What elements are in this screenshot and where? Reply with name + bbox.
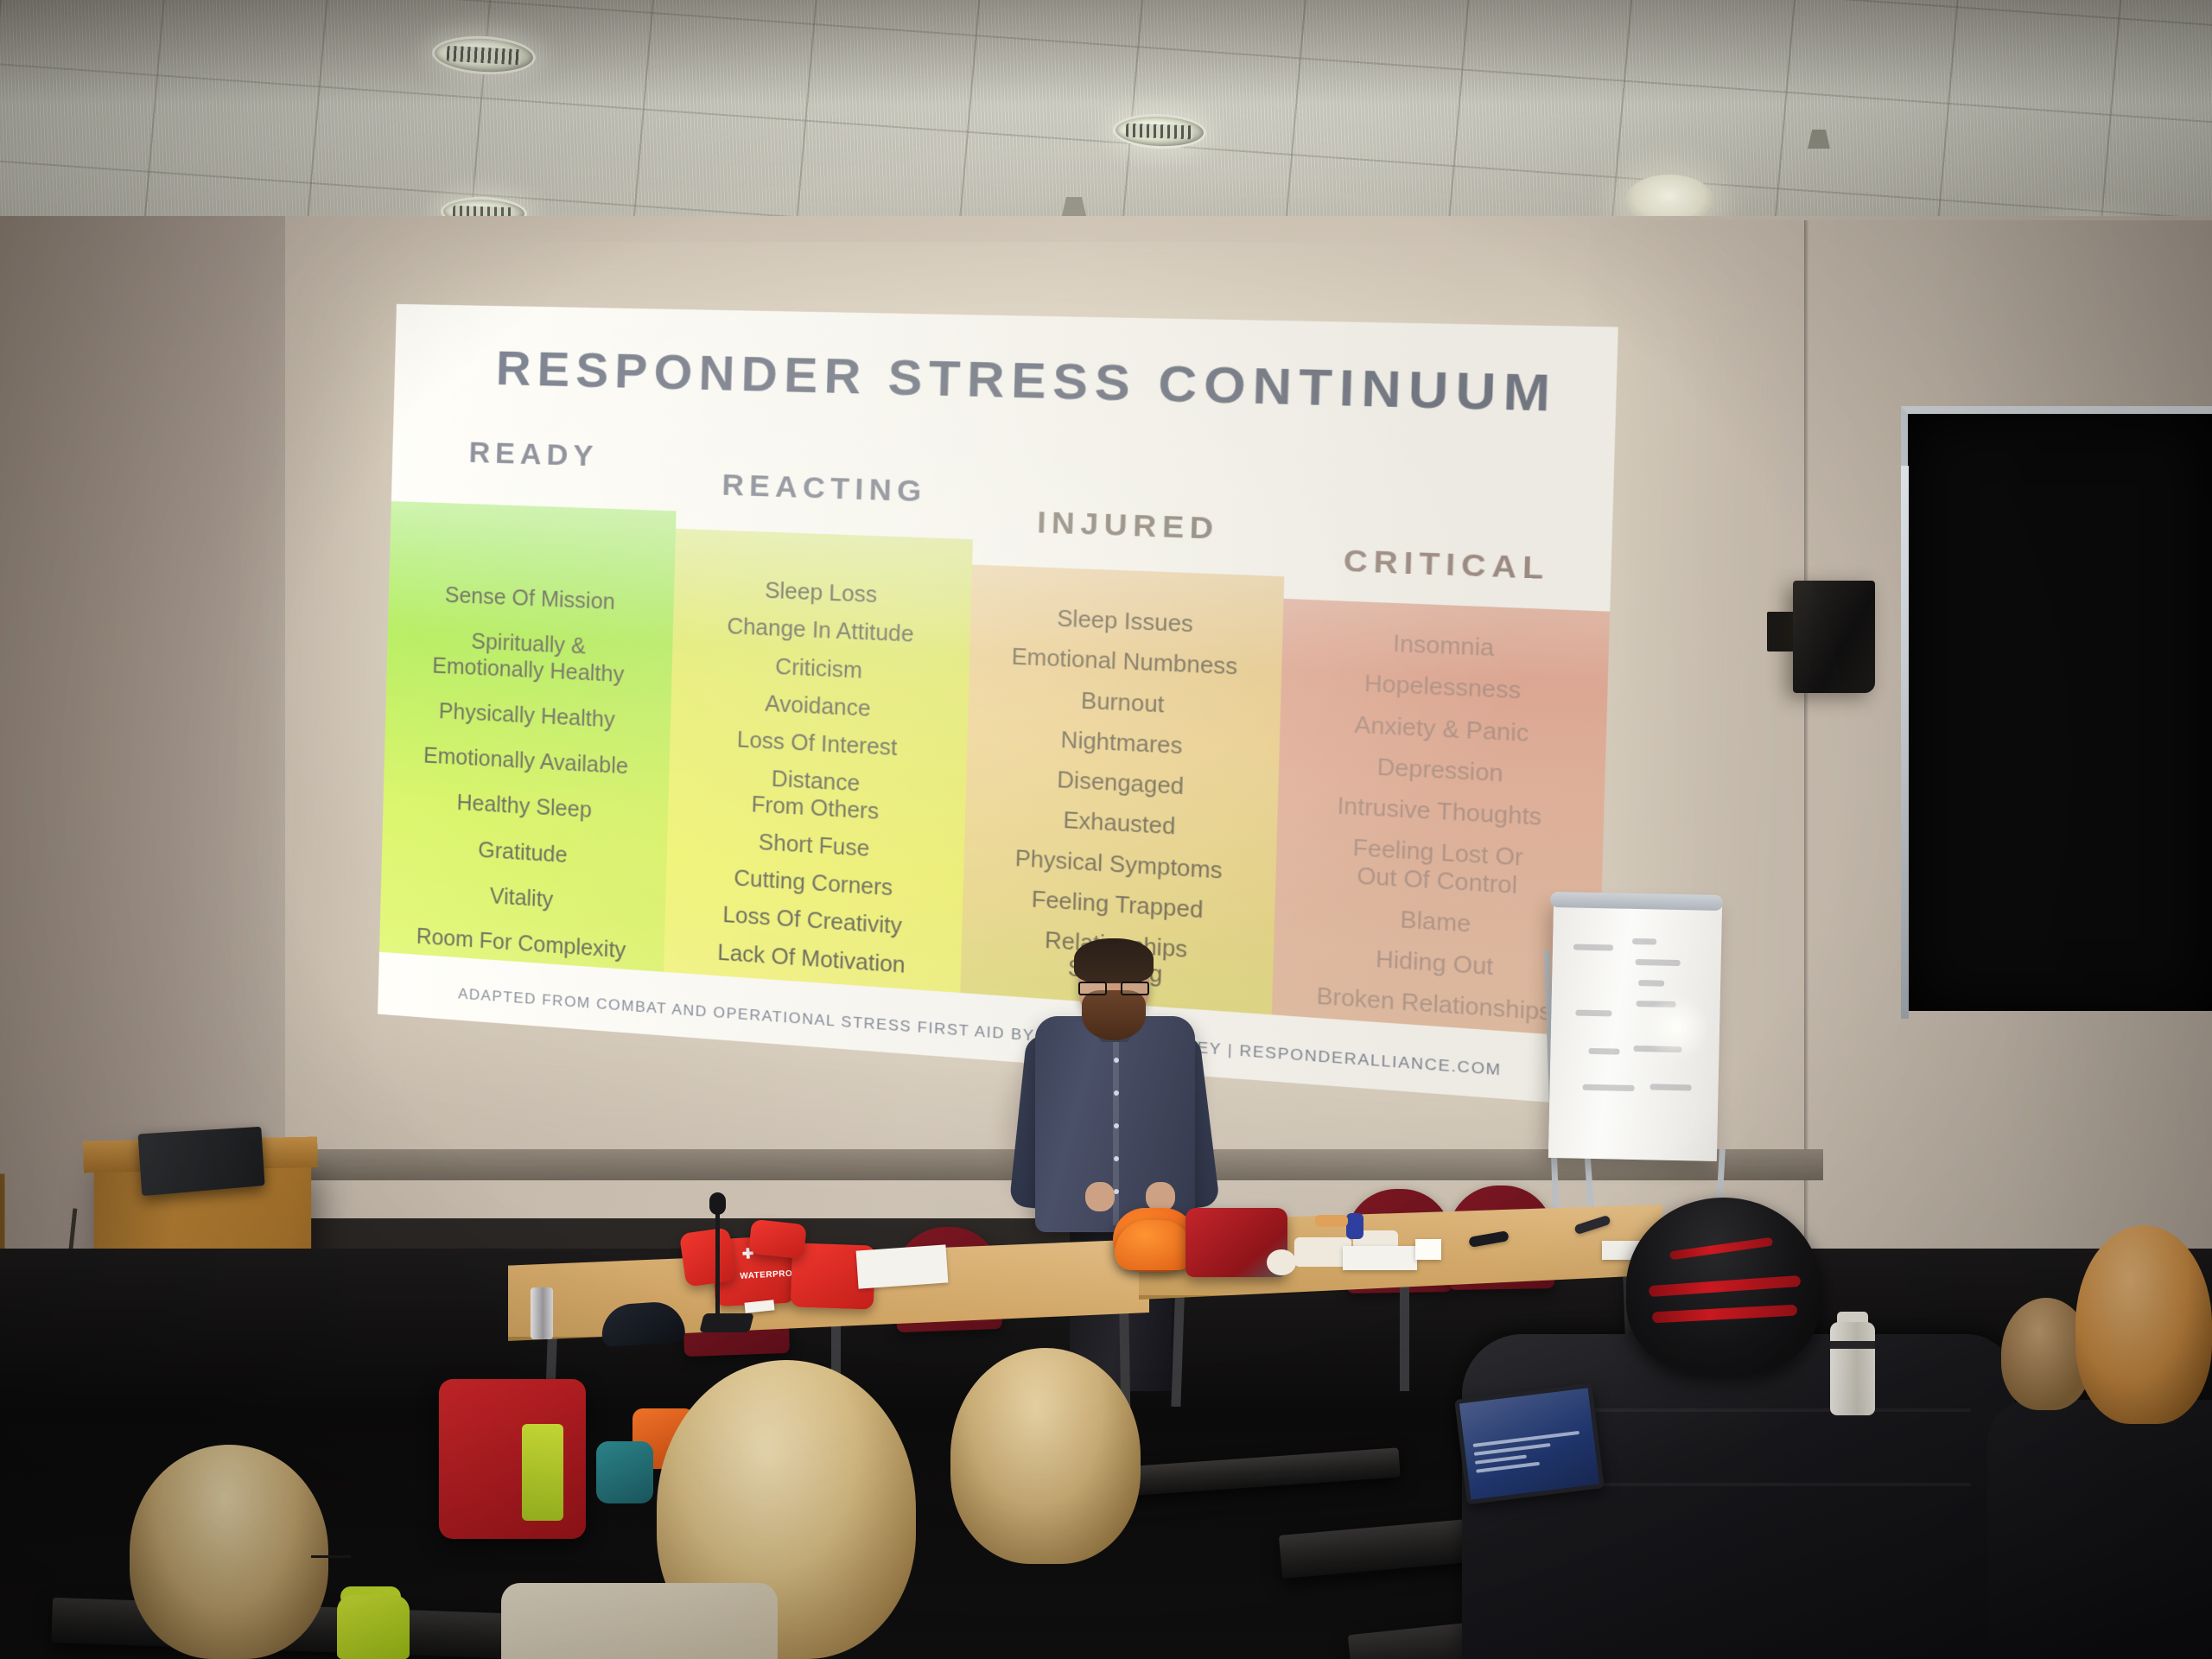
continuum-item: Vitality <box>391 877 653 919</box>
tape-roll[interactable] <box>1267 1249 1296 1275</box>
flipchart-scribble <box>1588 1048 1619 1055</box>
continuum-item: Disengaged <box>978 763 1265 805</box>
first-aid-kit[interactable] <box>679 1227 736 1287</box>
water-bottle-band <box>1830 1341 1875 1349</box>
shirt-button <box>1114 1123 1119 1128</box>
continuum-item: Short Fuse <box>678 825 952 868</box>
slide: READY Sense Of MissionSpiritually & Emot… <box>378 304 1618 1106</box>
flipchart-scribble <box>1632 938 1656 945</box>
flipchart-scribble <box>1583 1084 1635 1091</box>
laptop-screen-content <box>1473 1431 1584 1478</box>
flipchart-scribble <box>1573 944 1613 950</box>
continuum-item: Depression <box>1291 750 1592 793</box>
microphone-icon[interactable] <box>709 1192 726 1215</box>
microphone-stem <box>715 1206 720 1324</box>
column-ready: READY Sense Of MissionSpiritually & Emot… <box>378 304 681 1035</box>
continuum-item: Intrusive Thoughts <box>1290 791 1591 835</box>
audience-beanie <box>1626 1198 1821 1375</box>
window-blackout-blind <box>1901 406 2212 1011</box>
audience-head <box>130 1445 328 1659</box>
speaker-bracket <box>1767 612 1796 652</box>
shirt-button <box>1114 1058 1119 1063</box>
column-items-reacting: Sleep LossChange In AttitudeCriticismAvo… <box>674 575 960 1032</box>
continuum-item: Emotionally Available <box>396 742 658 782</box>
presenter-beard <box>1082 990 1146 1040</box>
continuum-item: Exhausted <box>977 804 1264 847</box>
shirt-button <box>1114 1156 1119 1161</box>
continuum-item: Distance From Others <box>679 762 954 829</box>
bandage-pack[interactable] <box>1343 1246 1417 1270</box>
flipchart-glare <box>1641 995 1711 1059</box>
continuum-item: Loss Of Interest <box>681 724 955 765</box>
audience-puffy-jacket <box>1462 1334 2015 1659</box>
presenter-hand-right <box>1146 1182 1175 1211</box>
audience-laptop[interactable] <box>1454 1383 1605 1505</box>
flipchart-clamp <box>1550 892 1723 911</box>
medical-item[interactable] <box>1315 1215 1348 1227</box>
water-bottle[interactable] <box>337 1595 410 1659</box>
flipchart[interactable] <box>1548 899 1722 1161</box>
first-aid-kit[interactable] <box>748 1219 807 1259</box>
column-header-critical: CRITICAL <box>1284 541 1611 589</box>
beanie-stripe <box>1669 1237 1773 1261</box>
wall-speaker <box>1793 581 1875 693</box>
continuum-item: Avoidance <box>682 687 956 727</box>
continuum-item: Blame <box>1287 899 1587 945</box>
continuum-item: Change In Attitude <box>684 613 959 651</box>
continuum-item: Spiritually & Emotionally Healthy <box>397 626 660 690</box>
drink-can[interactable] <box>531 1287 553 1339</box>
shirt-button <box>1114 1090 1119 1096</box>
continuum-item: Gratitude <box>393 832 655 874</box>
wall-corner-edge <box>1804 220 1809 1249</box>
continuum-item: Nightmares <box>979 723 1266 765</box>
continuum-item: Cutting Corners <box>677 862 951 906</box>
blue-tape[interactable] <box>1346 1213 1363 1239</box>
continuum-item: Healthy Sleep <box>394 787 656 828</box>
presenter-hair <box>1074 938 1154 983</box>
projection-screen[interactable]: READY Sense Of MissionSpiritually & Emot… <box>378 304 1618 1106</box>
column-items-ready: Sense Of MissionSpiritually & Emotionall… <box>390 582 662 987</box>
continuum-item: Hopelessness <box>1294 668 1595 709</box>
rescue-backpack[interactable] <box>439 1379 586 1539</box>
continuum-item: Physical Symptoms <box>976 843 1262 887</box>
flipchart-scribble <box>1636 959 1681 966</box>
water-bottle[interactable] <box>1830 1322 1875 1415</box>
column-header-injured: INJURED <box>973 503 1286 550</box>
flipchart-scribble <box>1650 1084 1692 1090</box>
rescue-helmet[interactable] <box>1115 1220 1194 1270</box>
continuum-item: Anxiety & Panic <box>1292 709 1593 751</box>
column-header-reacting: REACTING <box>676 467 975 512</box>
continuum-item: Loss Of Creativity <box>677 899 950 944</box>
column-header-ready: READY <box>392 434 677 476</box>
audience-head <box>950 1348 1141 1564</box>
presenter-hand-left <box>1085 1182 1115 1211</box>
continuum-item: Hiding Out <box>1286 941 1586 988</box>
bandage-pack[interactable] <box>1415 1239 1441 1260</box>
column-reacting: REACTING Sleep LossChange In AttitudeCri… <box>662 309 980 1058</box>
continuum-item: Criticism <box>683 650 957 689</box>
continuum-item: Physically Healthy <box>397 696 658 735</box>
backpack-hi-vis-panel <box>522 1424 563 1521</box>
microphone-base <box>699 1313 753 1332</box>
continuum-item: Feeling Lost Or Out Of Control <box>1287 832 1589 905</box>
continuum-item: Burnout <box>981 683 1268 724</box>
beanie-stripe <box>1649 1275 1801 1297</box>
podium-laptop[interactable] <box>138 1127 265 1196</box>
continuum-item: Feeling Trapped <box>975 883 1262 928</box>
audience-coat <box>1987 1400 2212 1659</box>
glasses-icon <box>1077 982 1151 995</box>
window-frame-highlight <box>1901 466 1909 1019</box>
lecture-room-photo: READY Sense Of MissionSpiritually & Emot… <box>0 0 2212 1659</box>
continuum-item: Emotional Numbness <box>982 643 1269 683</box>
audience-head <box>2075 1225 2212 1424</box>
audience-jacket <box>501 1583 778 1659</box>
flipchart-scribble <box>1638 980 1664 987</box>
glasses-icon <box>311 1555 351 1564</box>
paper-sheet[interactable] <box>856 1244 949 1288</box>
beanie-stripe <box>1652 1305 1797 1324</box>
teal-bag[interactable] <box>596 1441 653 1503</box>
flipchart-scribble <box>1575 1010 1611 1017</box>
